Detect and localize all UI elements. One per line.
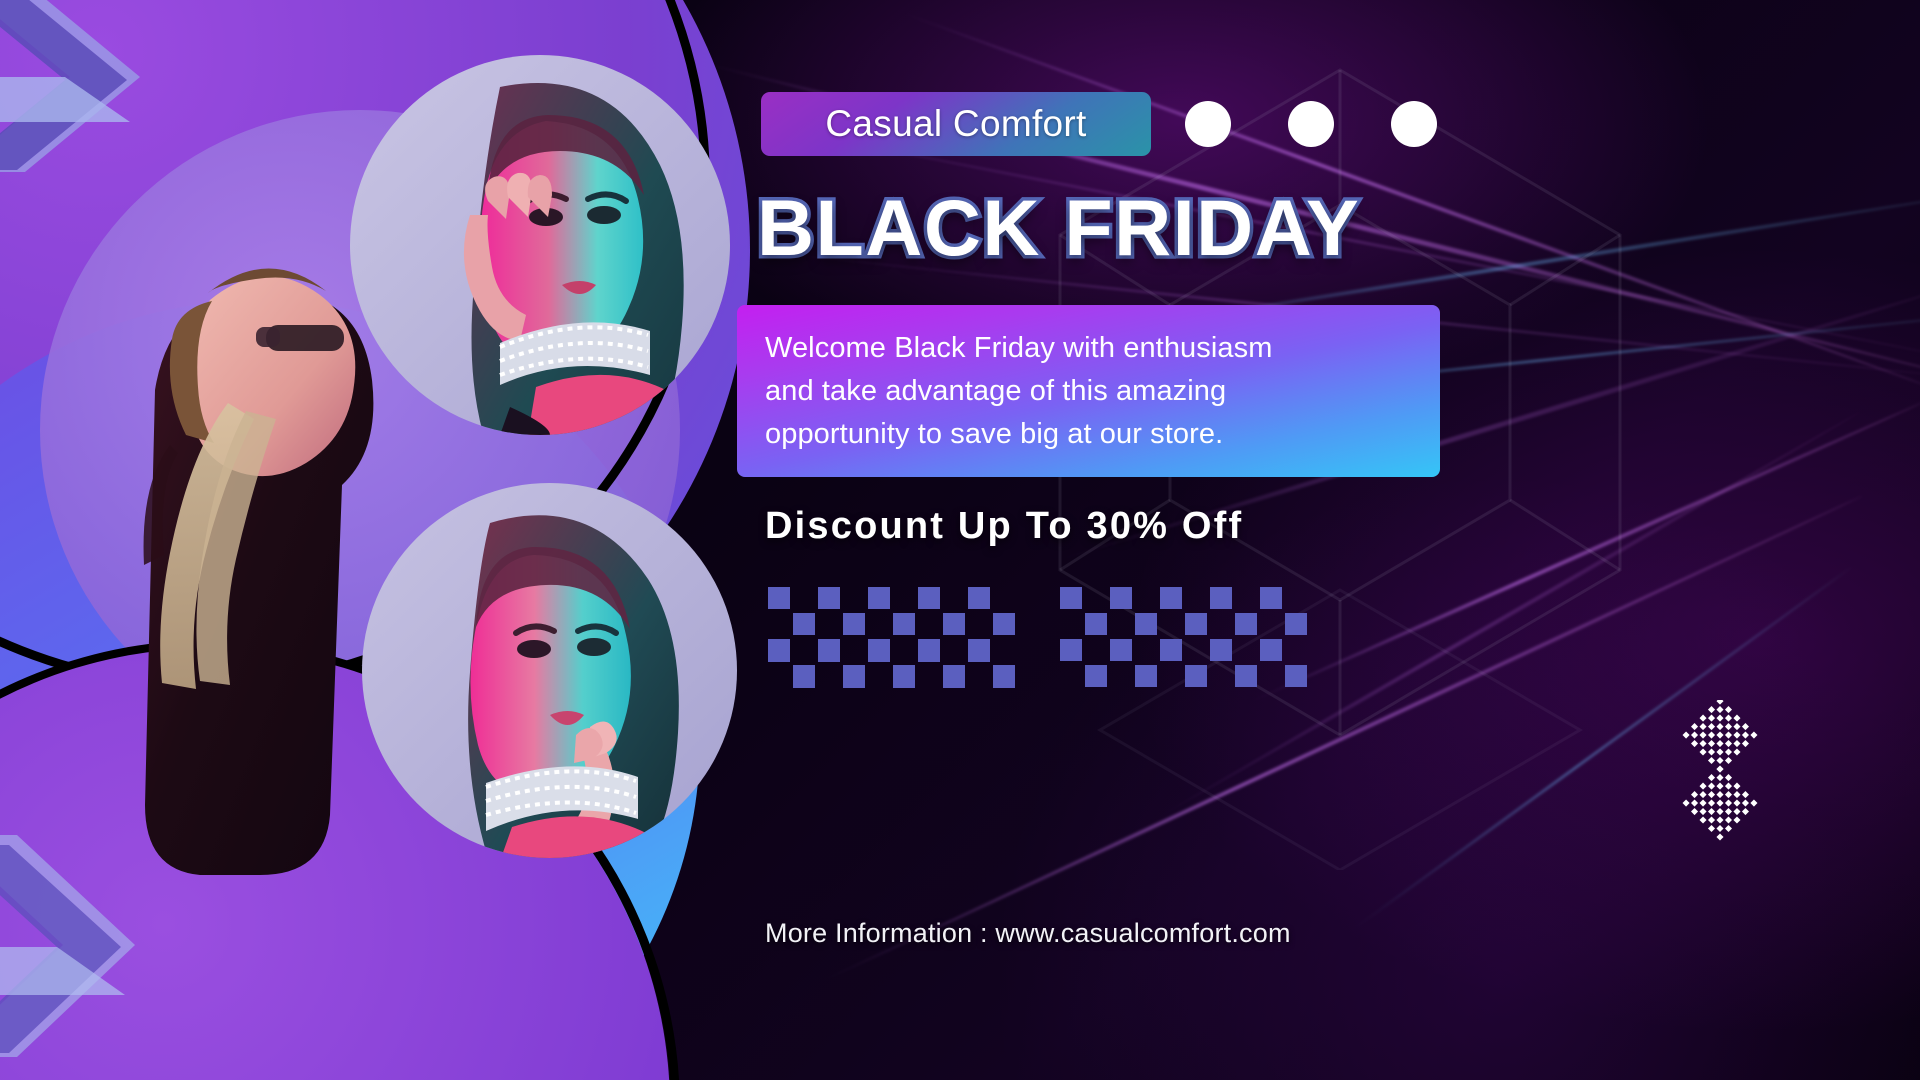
model-portrait-bottom bbox=[362, 483, 737, 858]
checker-pattern-right bbox=[1060, 587, 1308, 692]
description-line-1: Welcome Black Friday with enthusiasm bbox=[765, 332, 1273, 364]
checker-pattern-left-b bbox=[768, 640, 1016, 690]
decor-dot-2 bbox=[1288, 101, 1334, 147]
discount-headline: Discount Up To 30% Off bbox=[765, 505, 1465, 548]
diamond-dot-motif bbox=[1660, 700, 1780, 850]
brand-badge[interactable]: Casual Comfort bbox=[761, 92, 1151, 156]
description-line-2: and take advantage of this amazing bbox=[765, 375, 1226, 407]
description-panel: Welcome Black Friday with enthusiasm and… bbox=[737, 305, 1440, 477]
model-portrait-top bbox=[350, 55, 730, 435]
page-title: BLACK FRIDAY bbox=[757, 182, 1457, 274]
description-text: Welcome Black Friday with enthusiasm and… bbox=[737, 327, 1273, 456]
decor-dot-3 bbox=[1391, 101, 1437, 147]
chevron-arrow-topleft bbox=[0, 0, 205, 182]
description-line-3: opportunity to save big at our store. bbox=[765, 418, 1223, 450]
more-information[interactable]: More Information : www.casualcomfort.com bbox=[765, 918, 1485, 949]
black-friday-banner: Casual Comfort BLACK FRIDAY Welcome Blac… bbox=[0, 0, 1920, 1080]
brand-badge-label: Casual Comfort bbox=[825, 103, 1086, 145]
left-photo-collage bbox=[0, 0, 790, 1080]
decor-dot-1 bbox=[1185, 101, 1231, 147]
